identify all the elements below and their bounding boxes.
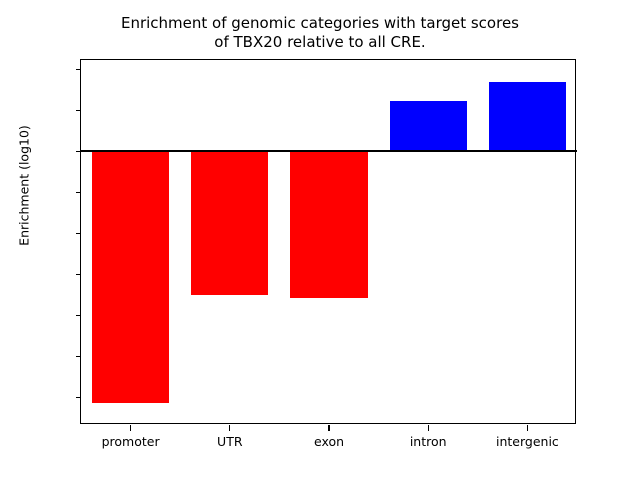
x-axis-tick-label: intergenic	[447, 434, 607, 449]
y-axis-tick	[76, 356, 82, 357]
chart-figure: Enrichment of genomic categories with ta…	[0, 0, 640, 480]
x-axis-tick	[428, 425, 429, 431]
zero-baseline	[81, 150, 577, 152]
y-axis-tick	[76, 397, 82, 398]
y-axis-label: Enrichment (log10)	[17, 76, 32, 296]
x-axis-tick	[130, 425, 131, 431]
bar-intergenic	[489, 82, 566, 151]
y-axis-tick	[76, 110, 82, 111]
bar-UTR	[191, 151, 268, 295]
y-axis-tick	[76, 192, 82, 193]
y-axis-tick	[76, 69, 82, 70]
bar-exon	[290, 151, 367, 298]
y-axis-tick	[76, 274, 82, 275]
bar-promoter	[92, 151, 169, 403]
x-axis-tick	[527, 425, 528, 431]
bar-intron	[390, 101, 467, 151]
y-axis-tick	[76, 315, 82, 316]
y-axis-tick	[76, 233, 82, 234]
chart-title: Enrichment of genomic categories with ta…	[0, 14, 640, 52]
plot-area: 0.040.020.00−0.02−0.04−0.06−0.08−0.10−0.…	[80, 59, 576, 424]
x-axis-tick	[229, 425, 230, 431]
x-axis-tick	[328, 425, 329, 431]
